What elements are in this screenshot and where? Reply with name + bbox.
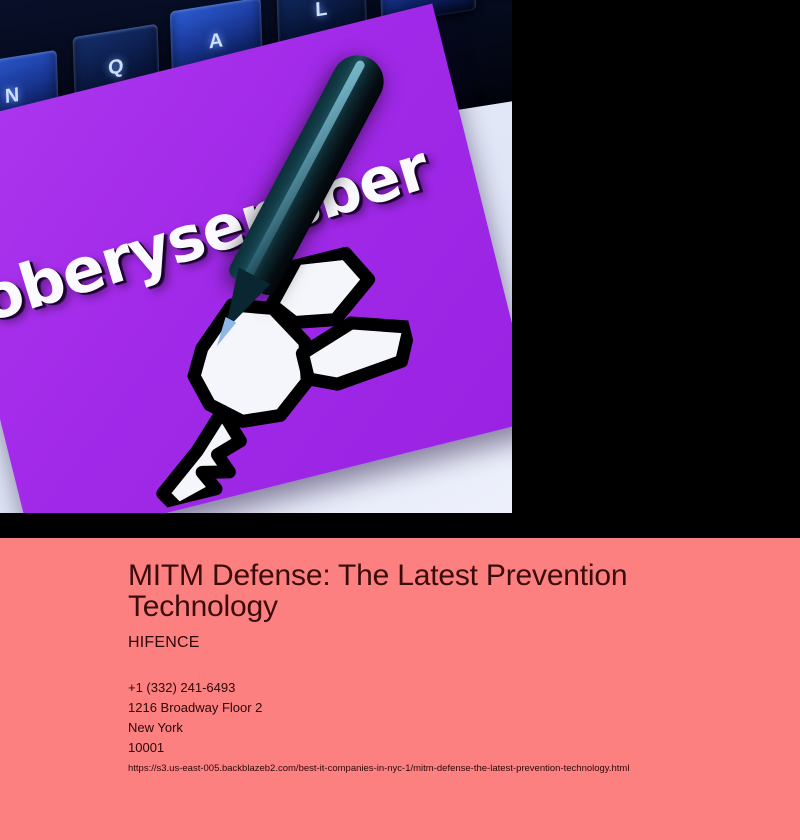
contact-street: 1216 Broadway Floor 2 — [128, 698, 760, 718]
contact-zip: 10001 — [128, 738, 760, 758]
info-panel: MITM Defense: The Latest Prevention Tech… — [0, 538, 800, 840]
page-root: N Q A L F T oberysepsber — [0, 0, 800, 840]
info-content: MITM Defense: The Latest Prevention Tech… — [128, 560, 760, 775]
contact-phone: +1 (332) 241-6493 — [128, 678, 760, 698]
company-name: HIFENCE — [128, 634, 760, 652]
contact-city: New York — [128, 718, 760, 738]
page-title: MITM Defense: The Latest Prevention Tech… — [128, 560, 688, 622]
contact-block: +1 (332) 241-6493 1216 Broadway Floor 2 … — [128, 678, 760, 758]
hero-photo-canvas: N Q A L F T oberysepsber — [0, 0, 512, 513]
hero-image: N Q A L F T oberysepsber — [0, 0, 512, 513]
page-url[interactable]: https://s3.us-east-005.backblazeb2.com/b… — [128, 763, 760, 775]
